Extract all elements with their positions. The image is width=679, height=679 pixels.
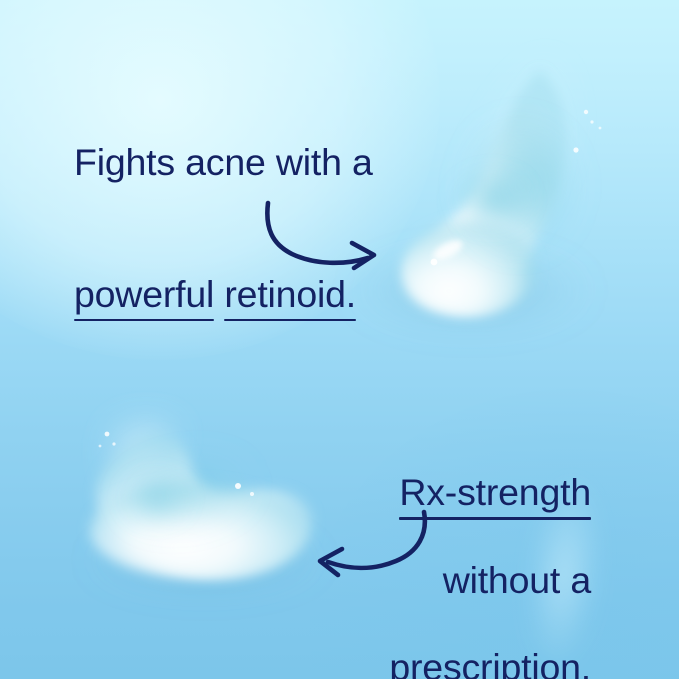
upper-gel-bubble-3 bbox=[590, 120, 593, 123]
lower-gel-bubble-3 bbox=[99, 445, 102, 448]
headline-top-line-2: powerful retinoid. bbox=[74, 229, 373, 317]
headline-bottom-line-1: Rx-strength bbox=[389, 427, 591, 515]
upper-gel-bubble-1 bbox=[573, 147, 578, 152]
upper-gel-highlight-dot-1 bbox=[431, 259, 438, 266]
lower-gel-highlight-dot-2 bbox=[250, 492, 254, 496]
lower-gel-swatch bbox=[85, 424, 325, 594]
upper-gel-bubble-2 bbox=[584, 110, 588, 114]
headline-top-line-1: Fights acne with a bbox=[74, 141, 373, 185]
lower-gel-teal-core-inner bbox=[122, 472, 190, 524]
upper-gel-teal-core bbox=[464, 120, 576, 252]
lower-gel-bubble-2 bbox=[112, 442, 115, 445]
lower-gel-shadow bbox=[85, 526, 325, 594]
lower-gel-wisp bbox=[114, 424, 176, 484]
upper-gel-highlight-main bbox=[431, 236, 466, 263]
headline-bottom-line-3: prescription. bbox=[389, 646, 591, 679]
rx-strength-headline: Rx-strength without a prescription. bbox=[389, 383, 591, 679]
upper-gel-shadow bbox=[348, 248, 592, 332]
upper-gel-teal-core-inner bbox=[452, 170, 532, 230]
headline-bottom-line-2: without a bbox=[389, 559, 591, 603]
upper-gel-head bbox=[404, 220, 536, 316]
underlined-word-powerful: powerful bbox=[74, 273, 214, 317]
lower-gel-base bbox=[90, 482, 302, 578]
arrow-bottom-head bbox=[320, 549, 342, 575]
upper-gel-swatch bbox=[348, 62, 601, 332]
lower-gel-highlight-dot-1 bbox=[235, 483, 241, 489]
upper-gel-bubble-4 bbox=[599, 127, 602, 130]
lower-gel-body bbox=[96, 433, 312, 578]
lower-gel-teal-core bbox=[115, 448, 256, 536]
headline-top-space bbox=[214, 273, 224, 315]
fights-acne-headline: Fights acne with a powerful retinoid. bbox=[74, 97, 373, 360]
underlined-word-retinoid: retinoid. bbox=[224, 273, 356, 317]
upper-gel-tail-wash bbox=[470, 62, 565, 236]
upper-gel-body bbox=[403, 70, 566, 312]
underlined-word-rx-strength: Rx-strength bbox=[399, 471, 591, 515]
lower-gel-bubble-1 bbox=[105, 432, 110, 437]
marketing-graphic-canvas: Fights acne with a powerful retinoid. Rx… bbox=[0, 0, 679, 679]
